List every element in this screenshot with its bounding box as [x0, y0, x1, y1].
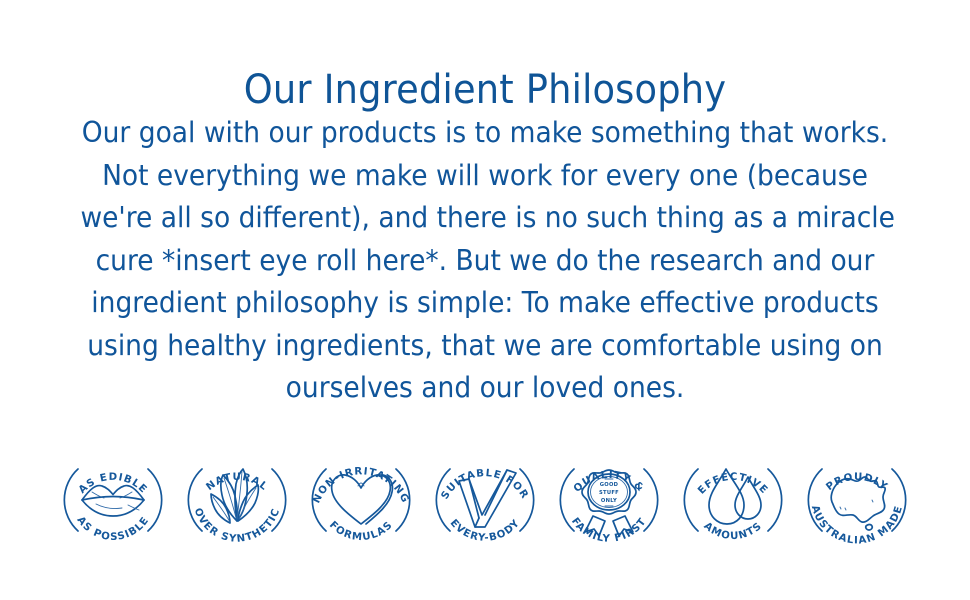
badge-as-edible-as-possible: AS EDIBLE AS POSSIBLE [56, 437, 170, 563]
body-line: cure *insert eye roll here*. But we do t… [80, 240, 889, 283]
badge-suitable-for-every-body: SUITABLE FOR EVERY-BODY [428, 437, 542, 563]
philosophy-paragraph: Our goal with our products is to make so… [80, 112, 889, 410]
badge-top-label: EFFECTIVE [696, 472, 770, 497]
lips-icon [82, 486, 144, 516]
trust-badge-row: AS EDIBLE AS POSSIBLE [0, 437, 970, 567]
badge-top-label: AS EDIBLE [77, 472, 149, 496]
body-line: Our goal with our products is to make so… [80, 112, 889, 155]
body-line: using healthy ingredients, that we are c… [80, 325, 889, 368]
badge-quality-family-first: GOOD STUFF ONLY QUALITY & FAMILY FIRST [552, 437, 666, 563]
page-title: Our Ingredient Philosophy [39, 68, 931, 112]
badge-ring-right [768, 469, 782, 531]
body-line: Not everything we make will work for eve… [80, 155, 889, 198]
badge-top-label: NATURAL [204, 472, 269, 493]
body-line: ingredient philosophy is simple: To make… [80, 282, 889, 325]
badge-natural-over-synthetic: NATURAL OVER SYNTHETIC [180, 437, 294, 563]
badge-proudly-australian-made: PROUDLY AUSTRALIAN MADE [800, 437, 914, 563]
badge-bottom-label: FAMILY FIRST [569, 516, 649, 545]
seal-line: STUFF [599, 490, 619, 496]
body-line: we're all so different), and there is no… [80, 197, 889, 240]
badge-bottom-label: EVERY-BODY [448, 518, 523, 544]
badge-ring-left [684, 469, 698, 531]
badge-effective-amounts: EFFECTIVE AMOUNTS [676, 437, 790, 563]
badge-non-irritating-formulas: NON-IRRITATING FORMULAS [304, 437, 418, 563]
badge-bottom-label: AUSTRALIAN MADE [809, 504, 905, 546]
body-line: ourselves and our loved ones. [80, 367, 889, 410]
badge-bottom-label: AS POSSIBLE [74, 515, 151, 543]
seal-line: ONLY [601, 498, 617, 504]
ingredient-philosophy-panel: Our Ingredient Philosophy Our goal with … [0, 0, 970, 600]
seal-line: GOOD [600, 482, 619, 488]
badge-top-label: PROUDLY [824, 472, 889, 493]
badge-top-label: NON-IRRITATING [311, 466, 410, 505]
